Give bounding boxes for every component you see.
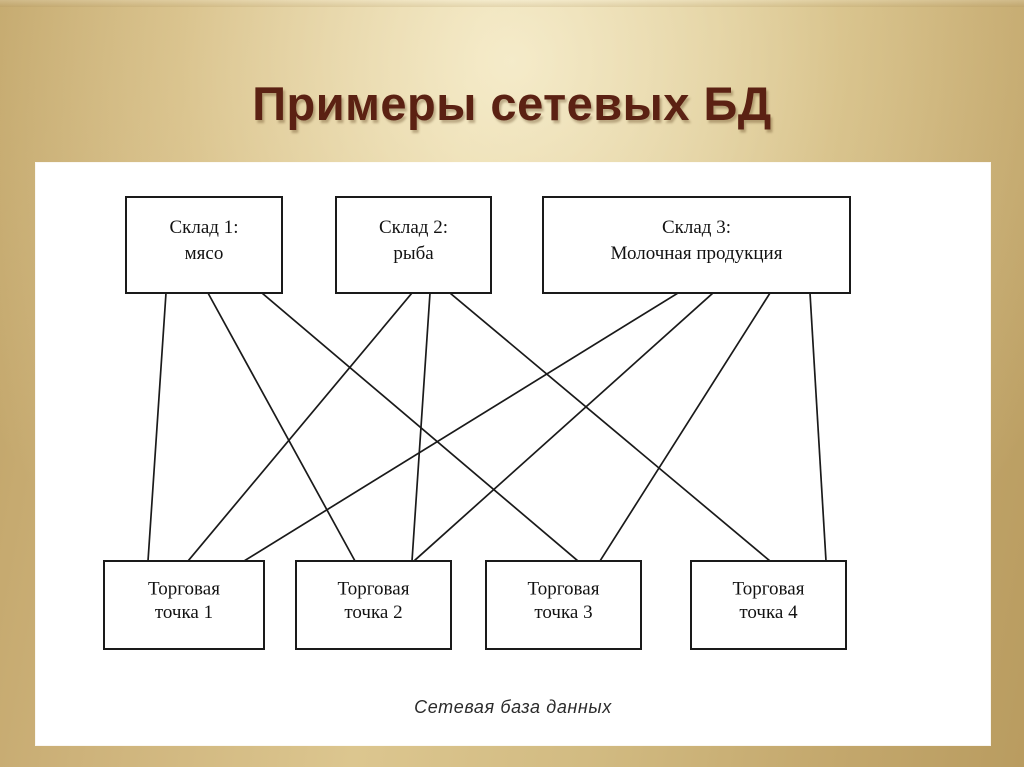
outlet-label-line2: точка 2 bbox=[344, 602, 402, 623]
diagram-caption: Сетевая база данных bbox=[414, 697, 612, 717]
link-w1-t2 bbox=[208, 293, 355, 561]
outlet-label-line2: точка 1 bbox=[155, 602, 213, 623]
node-boxes-group: Склад 1:мясоСклад 2:рыбаСклад 3:Молочная… bbox=[104, 197, 850, 649]
outlet-label-line2: точка 3 bbox=[534, 602, 592, 623]
warehouse-label-line1: Склад 1: bbox=[169, 217, 238, 238]
outlet-label-line1: Торговая bbox=[148, 578, 220, 599]
page-title: Примеры сетевых БД bbox=[0, 76, 1024, 131]
warehouse-node-w3[interactable]: Склад 3:Молочная продукция bbox=[543, 197, 850, 293]
link-w3-t4 bbox=[810, 293, 826, 561]
diagram-panel: Склад 1:мясоСклад 2:рыбаСклад 3:Молочная… bbox=[36, 163, 990, 745]
warehouse-label-line2: мясо bbox=[185, 243, 224, 264]
link-w2-t1 bbox=[188, 293, 412, 561]
link-w3-t3 bbox=[600, 293, 770, 561]
outlet-label-line2: точка 4 bbox=[739, 602, 798, 623]
slide: Примеры сетевых БД Склад 1:мясоСклад 2:р… bbox=[0, 0, 1024, 767]
warehouse-label-line2: рыба bbox=[393, 243, 434, 264]
outlet-node-t3[interactable]: Торговаяточка 3 bbox=[486, 561, 641, 649]
warehouse-label-line1: Склад 2: bbox=[379, 217, 448, 238]
outlet-label-line1: Торговая bbox=[733, 578, 805, 599]
warehouse-node-w2[interactable]: Склад 2:рыба bbox=[336, 197, 491, 293]
outlet-label-line1: Торговая bbox=[528, 578, 600, 599]
outlet-node-t4[interactable]: Торговаяточка 4 bbox=[691, 561, 846, 649]
warehouse-label-line2: Молочная продукция bbox=[611, 243, 783, 264]
link-w2-t4 bbox=[450, 293, 770, 561]
outlet-node-t2[interactable]: Торговаяточка 2 bbox=[296, 561, 451, 649]
outlet-node-t1[interactable]: Торговаяточка 1 bbox=[104, 561, 264, 649]
warehouse-label-line1: Склад 3: bbox=[662, 217, 731, 238]
link-lines-group bbox=[148, 293, 826, 561]
link-w1-t1 bbox=[148, 293, 166, 561]
warehouse-node-w1[interactable]: Склад 1:мясо bbox=[126, 197, 282, 293]
outlet-label-line1: Торговая bbox=[338, 578, 410, 599]
link-w3-t2 bbox=[414, 293, 713, 561]
link-w2-t2 bbox=[412, 293, 430, 561]
network-database-diagram: Склад 1:мясоСклад 2:рыбаСклад 3:Молочная… bbox=[36, 163, 990, 745]
